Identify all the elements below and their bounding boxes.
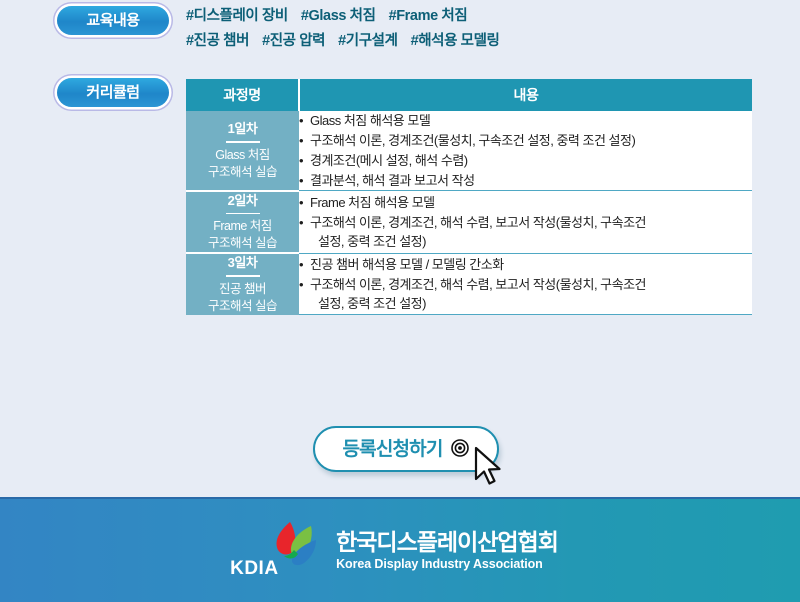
day-subtitle-line2: 구조해석 실습: [186, 164, 299, 181]
table-row: 3일차 진공 챔버 구조해석 실습 진공 챔버 해석용 모델 / 모델링 간소화…: [186, 253, 752, 315]
hashtag: #해석용 모델링: [411, 33, 500, 49]
content-bullet-list: Frame 처짐 해석용 모델 구조해석 이론, 경계조건, 해석 수렴, 보고…: [299, 193, 752, 251]
cell-content-day-1: Glass 처짐 해석용 모델 구조해석 이론, 경계조건(물성치, 구속조건 …: [299, 111, 752, 191]
day-subtitle-line2: 구조해석 실습: [186, 235, 299, 252]
bullet-text: 구조해석 이론, 경계조건(물성치, 구속조건 설정, 중력 조건 설정): [310, 133, 635, 148]
day-subtitle-line2: 구조해석 실습: [186, 298, 299, 315]
content-bullet-list: Glass 처짐 해석용 모델 구조해석 이론, 경계조건(물성치, 구속조건 …: [299, 111, 752, 190]
day-number: 1일차: [186, 120, 299, 140]
hashtag: #Glass 처짐: [301, 8, 376, 24]
bullet-text-continued: 설정, 중력 조건 설정): [310, 294, 752, 313]
table-header-row: 과정명 내용: [186, 79, 752, 111]
association-name-en: Korea Display Industry Association: [336, 556, 558, 572]
hashtag: #디스플레이 장비: [186, 8, 288, 24]
day-divider: [226, 275, 260, 277]
bullet-text: Frame 처짐 해석용 모델: [310, 195, 435, 210]
hashtag-line-2: #진공 챔버#진공 압력#기구설계#해석용 모델링: [186, 29, 786, 54]
kdia-logo: KDIA: [230, 520, 326, 582]
day-number: 2일차: [186, 192, 299, 212]
cell-course-day-3: 3일차 진공 챔버 구조해석 실습: [186, 253, 299, 315]
curriculum-table: 과정명 내용 1일차 Glass 처짐 구조해석 실습 Glass 처짐 해석용…: [186, 79, 752, 315]
table-row: 1일차 Glass 처짐 구조해석 실습 Glass 처짐 해석용 모델 구조해…: [186, 111, 752, 191]
column-header-content: 내용: [299, 79, 752, 111]
bullet-text: 구조해석 이론, 경계조건, 해석 수렴, 보고서 작성(물성치, 구속조건: [310, 277, 646, 292]
badge-curriculum: 커리큘럼: [57, 78, 169, 107]
badge-education-label: 교육내용: [86, 13, 139, 28]
badge-education-content: 교육내용: [57, 6, 169, 35]
list-item: 진공 챔버 해석용 모델 / 모델링 간소화: [299, 255, 752, 274]
hashtag-list: #디스플레이 장비#Glass 처짐#Frame 처짐 #진공 챔버#진공 압력…: [186, 4, 786, 54]
hashtag-line-1: #디스플레이 장비#Glass 처짐#Frame 처짐: [186, 4, 786, 29]
day-subtitle-line1: Glass 처짐: [186, 147, 299, 164]
cell-content-day-3: 진공 챔버 해석용 모델 / 모델링 간소화 구조해석 이론, 경계조건, 해석…: [299, 253, 752, 315]
site-footer: KDIA 한국디스플레이산업협회 Korea Display Industry …: [0, 497, 800, 602]
bullet-text: Glass 처짐 해석용 모델: [310, 113, 430, 128]
cell-course-day-1: 1일차 Glass 처짐 구조해석 실습: [186, 111, 299, 191]
click-ripple-icon: [450, 439, 470, 459]
list-item: 결과분석, 해석 결과 보고서 작성: [299, 171, 752, 190]
kdia-wordmark: KDIA: [230, 558, 278, 580]
hashtag: #기구설계: [338, 33, 397, 49]
hashtag: #진공 챔버: [186, 33, 249, 49]
column-header-course: 과정명: [186, 79, 299, 111]
cell-course-day-2: 2일차 Frame 처짐 구조해석 실습: [186, 191, 299, 254]
promo-page: 교육내용 #디스플레이 장비#Glass 처짐#Frame 처짐 #진공 챔버#…: [0, 0, 800, 600]
list-item: Frame 처짐 해석용 모델: [299, 193, 752, 212]
day-subtitle-line1: Frame 처짐: [186, 218, 299, 235]
register-button-label: 등록신청하기: [342, 440, 442, 459]
hashtag: #Frame 처짐: [389, 8, 468, 24]
list-item: Glass 처짐 해석용 모델: [299, 111, 752, 130]
day-subtitle-line1: 진공 챔버: [186, 281, 299, 298]
list-item: 구조해석 이론, 경계조건, 해석 수렴, 보고서 작성(물성치, 구속조건설정…: [299, 213, 752, 251]
table-row: 2일차 Frame 처짐 구조해석 실습 Frame 처짐 해석용 모델 구조해…: [186, 191, 752, 254]
hashtag: #진공 압력: [262, 33, 325, 49]
bullet-text: 결과분석, 해석 결과 보고서 작성: [310, 173, 475, 188]
list-item: 구조해석 이론, 경계조건, 해석 수렴, 보고서 작성(물성치, 구속조건설정…: [299, 275, 752, 313]
list-item: 경계조건(메시 설정, 해석 수렴): [299, 151, 752, 170]
bullet-text: 진공 챔버 해석용 모델 / 모델링 간소화: [310, 257, 504, 272]
list-item: 구조해석 이론, 경계조건(물성치, 구속조건 설정, 중력 조건 설정): [299, 131, 752, 150]
association-name-ko: 한국디스플레이산업협회: [336, 529, 558, 556]
content-bullet-list: 진공 챔버 해석용 모델 / 모델링 간소화 구조해석 이론, 경계조건, 해석…: [299, 255, 752, 313]
day-number: 3일차: [186, 254, 299, 274]
day-divider: [226, 141, 260, 143]
association-name: 한국디스플레이산업협회 Korea Display Industry Assoc…: [336, 529, 558, 572]
badge-curriculum-label: 커리큘럼: [86, 85, 139, 100]
footer-logo-group: KDIA 한국디스플레이산업협회 Korea Display Industry …: [230, 520, 558, 582]
cell-content-day-2: Frame 처짐 해석용 모델 구조해석 이론, 경계조건, 해석 수렴, 보고…: [299, 191, 752, 254]
bullet-text: 구조해석 이론, 경계조건, 해석 수렴, 보고서 작성(물성치, 구속조건: [310, 215, 646, 230]
bullet-text-continued: 설정, 중력 조건 설정): [310, 232, 752, 251]
day-divider: [226, 213, 260, 215]
bullet-text: 경계조건(메시 설정, 해석 수렴): [310, 153, 468, 168]
register-button[interactable]: 등록신청하기: [313, 426, 499, 472]
